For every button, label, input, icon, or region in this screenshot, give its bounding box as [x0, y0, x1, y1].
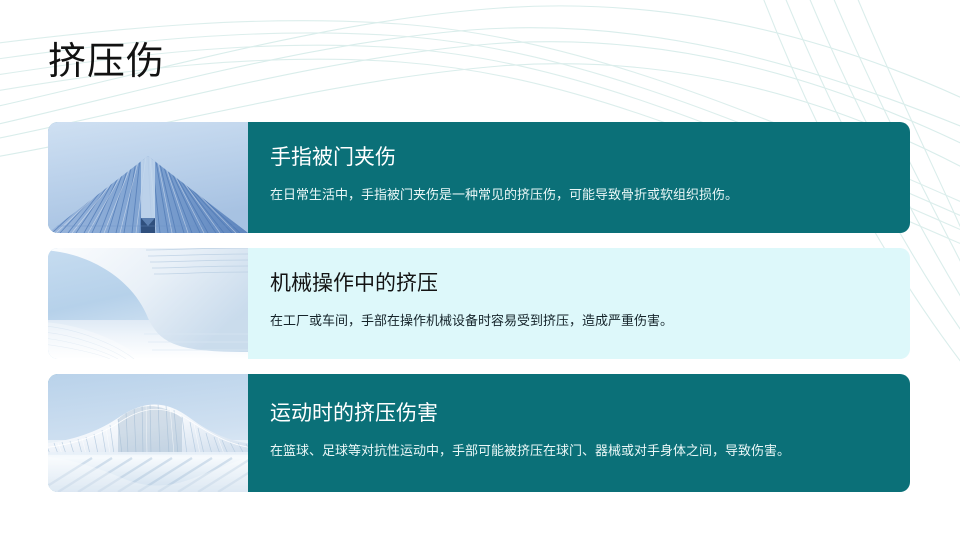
card-text-block: 运动时的挤压伤害 在篮球、足球等对抗性运动中，手部可能被挤压在球门、器械或对手身…: [248, 374, 910, 492]
content-card[interactable]: 手指被门夹伤 在日常生活中，手指被门夹伤是一种常见的挤压伤，可能导致骨折或软组织…: [48, 122, 910, 233]
card-image-blue-pyramid-facade: [48, 122, 248, 233]
page-title: 挤压伤: [48, 38, 165, 86]
card-text-block: 手指被门夹伤 在日常生活中，手指被门夹伤是一种常见的挤压伤，可能导致骨折或软组织…: [248, 122, 910, 233]
card-text-block: 机械操作中的挤压 在工厂或车间，手部在操作机械设备时容易受到挤压，造成严重伤害。: [248, 248, 910, 359]
card-heading: 运动时的挤压伤害: [270, 400, 882, 428]
card-list: 手指被门夹伤 在日常生活中，手指被门夹伤是一种常见的挤压伤，可能导致骨折或软组织…: [48, 122, 910, 492]
card-heading: 机械操作中的挤压: [270, 270, 882, 298]
card-description: 在工厂或车间，手部在操作机械设备时容易受到挤压，造成严重伤害。: [270, 311, 882, 330]
card-image-white-ribbed-dome: [48, 374, 248, 492]
card-image-curved-white-ribbed-structure: [48, 248, 248, 359]
card-heading: 手指被门夹伤: [270, 144, 882, 172]
content-card[interactable]: 运动时的挤压伤害 在篮球、足球等对抗性运动中，手部可能被挤压在球门、器械或对手身…: [48, 374, 910, 492]
card-description: 在日常生活中，手指被门夹伤是一种常见的挤压伤，可能导致骨折或软组织损伤。: [270, 185, 882, 204]
card-description: 在篮球、足球等对抗性运动中，手部可能被挤压在球门、器械或对手身体之间，导致伤害。: [270, 441, 882, 460]
content-card[interactable]: 机械操作中的挤压 在工厂或车间，手部在操作机械设备时容易受到挤压，造成严重伤害。: [48, 248, 910, 359]
presentation-slide: 挤压伤: [0, 0, 960, 540]
